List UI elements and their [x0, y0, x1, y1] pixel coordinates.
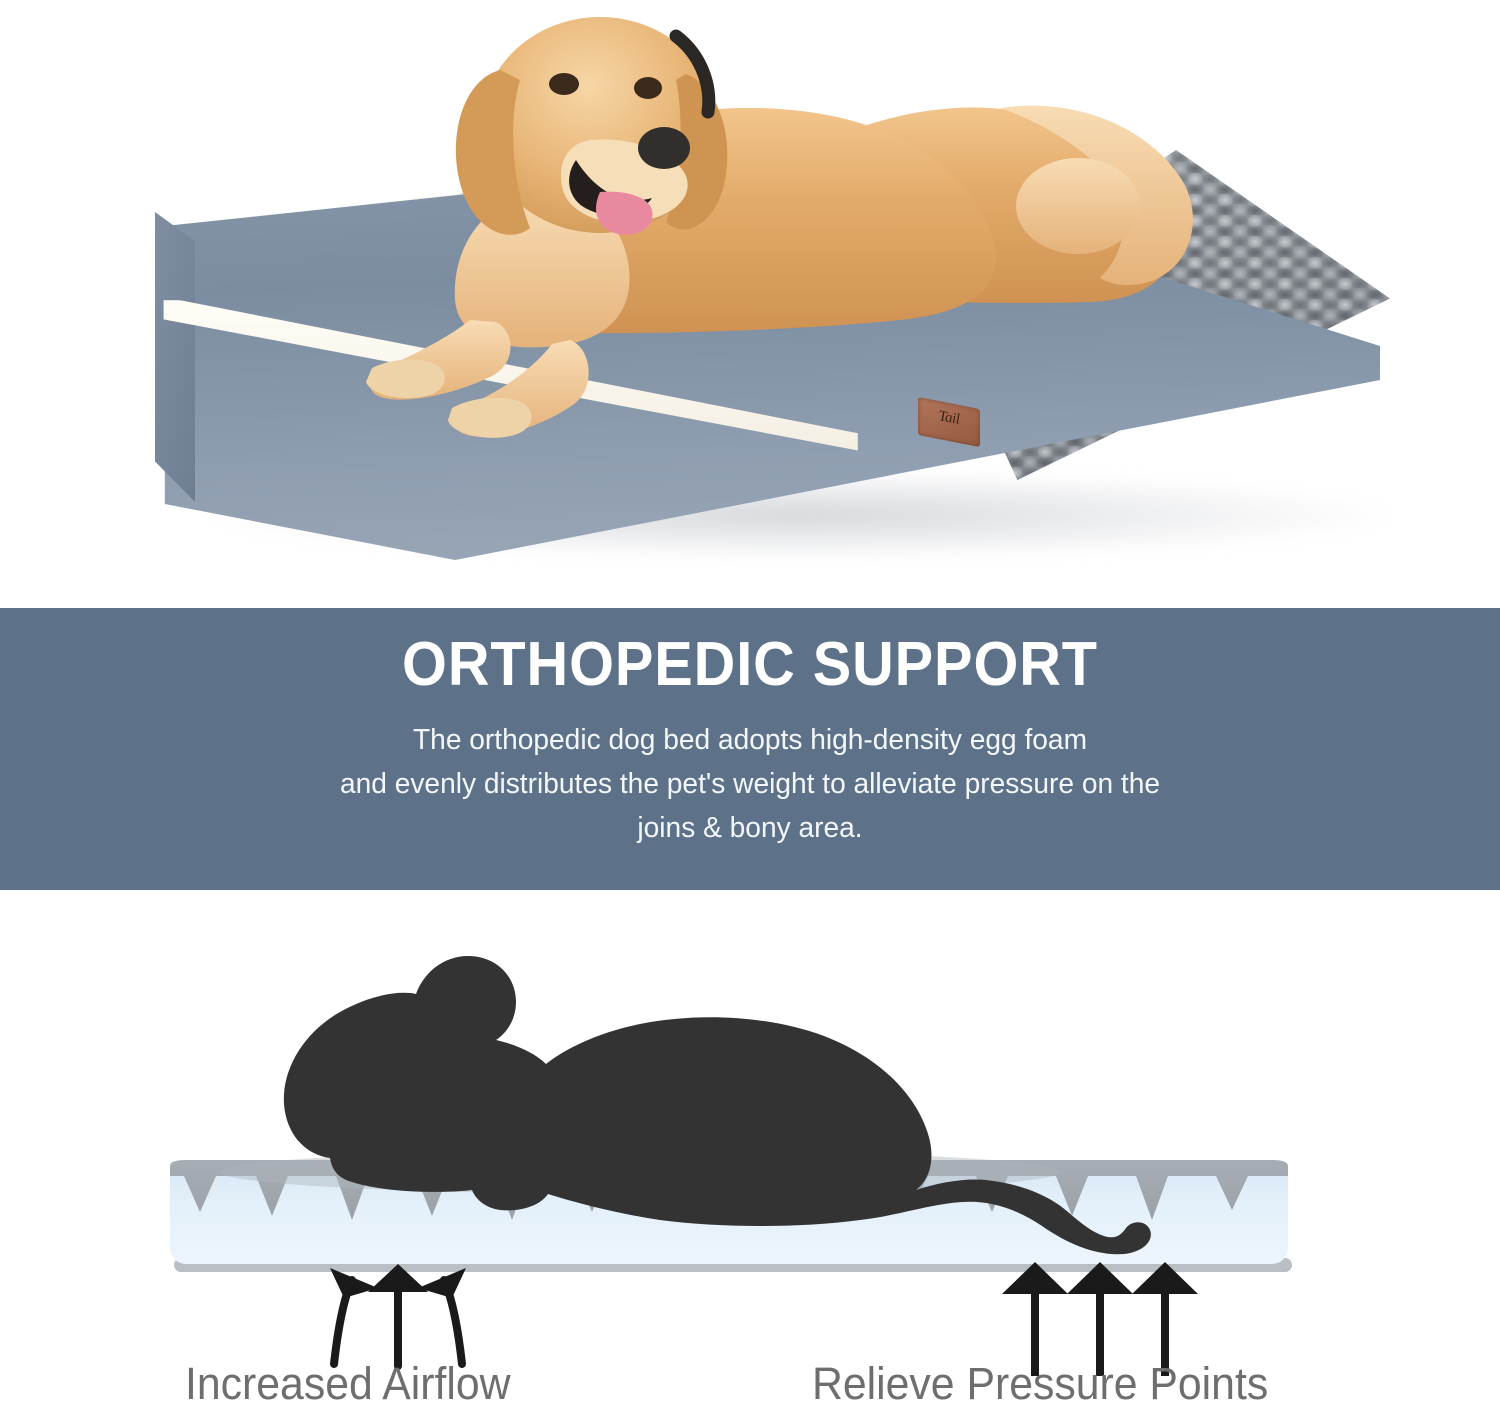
banner-body-line-1: The orthopedic dog bed adopts high-densi… [23, 718, 1478, 762]
product-infographic-page: Tail [0, 0, 1500, 1416]
banner-body-line-2: and evenly distributes the pet's weight … [23, 762, 1478, 806]
retriever-right-eye [634, 77, 662, 99]
orthopedic-support-banner: ORTHOPEDIC SUPPORT The orthopedic dog be… [0, 608, 1500, 890]
foam-cross-section-diagram [0, 890, 1500, 1416]
golden-retriever-photo [0, 0, 1500, 608]
caption-increased-airflow: Increased Airflow [185, 1358, 511, 1410]
dog-bed-product-image: Tail [0, 0, 1500, 608]
airflow-arrow-head-3 [418, 1268, 466, 1298]
retriever-nose [638, 127, 690, 169]
airflow-arrow-head-1 [330, 1268, 378, 1298]
retriever-paw-left [366, 359, 445, 398]
retriever-rear-paw [1016, 158, 1140, 254]
banner-body-text: The orthopedic dog bed adopts high-densi… [23, 718, 1478, 850]
caption-relieve-pressure-points: Relieve Pressure Points [812, 1358, 1268, 1410]
airflow-arrow-group [330, 1264, 466, 1366]
banner-body-line-3: joins & bony area. [23, 806, 1478, 850]
retriever-left-eye [549, 73, 579, 95]
banner-heading: ORTHOPEDIC SUPPORT [53, 634, 1448, 696]
diagram-illustration [0, 890, 1500, 1416]
product-photo-section: Tail [0, 0, 1500, 608]
